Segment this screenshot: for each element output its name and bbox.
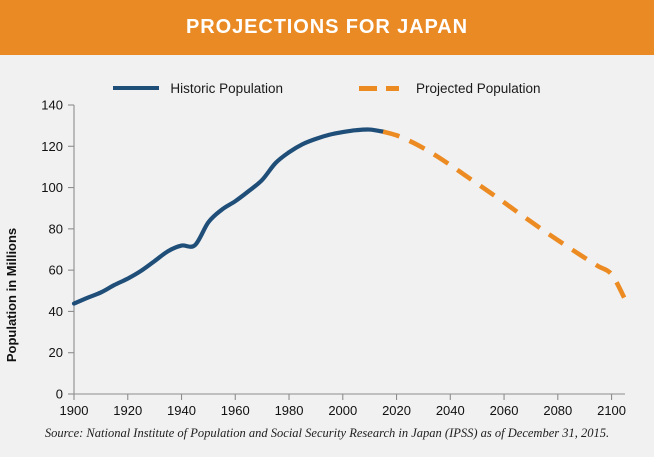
y-tick-label: 140 (41, 98, 63, 113)
legend-label-historic: Historic Population (170, 81, 283, 96)
legend-solid-line-icon (113, 86, 159, 90)
y-tick-label: 40 (49, 304, 63, 319)
x-tick-label: 2040 (436, 403, 465, 416)
x-tick-label: 1940 (167, 403, 196, 416)
y-tick-label: 100 (41, 180, 63, 195)
y-tick-label: 120 (41, 139, 63, 154)
legend-item-historic: Historic Population (113, 81, 283, 96)
x-tick-label: 1920 (113, 403, 142, 416)
y-tick-label: 80 (49, 221, 63, 236)
y-axis: 020406080100120140 (41, 98, 74, 402)
legend-dashed-line-icon (359, 86, 405, 91)
x-tick-label: 2080 (543, 403, 572, 416)
chart-plot-area: 020406080100120140 190019201940196019802… (0, 96, 654, 416)
x-axis: 1900192019401960198020002020204020602080… (60, 394, 626, 416)
source-note: Source: National Institute of Population… (0, 426, 654, 441)
legend-label-projected: Projected Population (416, 81, 541, 96)
x-tick-label: 2100 (597, 403, 626, 416)
population-line-chart: 020406080100120140 190019201940196019802… (0, 96, 654, 416)
x-tick-label: 2000 (328, 403, 357, 416)
page-title: PROJECTIONS FOR JAPAN (186, 16, 468, 39)
series-line-projected (383, 132, 625, 300)
legend-item-projected: Projected Population (359, 81, 541, 96)
y-tick-label: 60 (49, 263, 63, 278)
header-banner: PROJECTIONS FOR JAPAN (0, 0, 654, 55)
x-tick-label: 2060 (490, 403, 519, 416)
x-tick-label: 1980 (275, 403, 304, 416)
y-tick-label: 0 (56, 387, 63, 402)
y-axis-title: Population in Millions (4, 228, 19, 362)
x-tick-label: 1900 (60, 403, 89, 416)
x-tick-label: 1960 (221, 403, 250, 416)
x-tick-label: 2020 (382, 403, 411, 416)
y-tick-label: 20 (49, 345, 63, 360)
series-line-historic (74, 129, 383, 303)
